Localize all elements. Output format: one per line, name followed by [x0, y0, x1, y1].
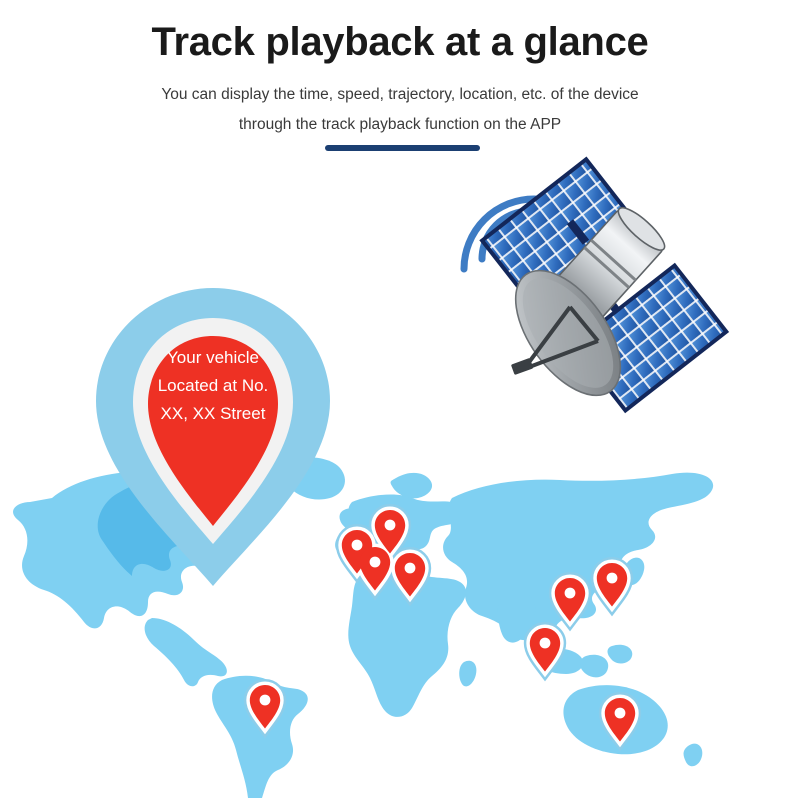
- title-underline-rule: [325, 145, 480, 151]
- callout-pin-svg: [88, 282, 338, 592]
- satellite-svg: [420, 155, 730, 465]
- page-subtitle-line-2: through the track playback function on t…: [90, 110, 710, 140]
- page-subtitle: You can display the time, speed, traject…: [90, 66, 710, 140]
- hero-header: Track playback at a glance You can displ…: [0, 0, 800, 140]
- page-subtitle-line-1: You can display the time, speed, traject…: [90, 80, 710, 110]
- vehicle-location-callout[interactable]: Your vehicle Located at No. XX, XX Stree…: [88, 282, 338, 592]
- satellite-illustration: [420, 155, 730, 465]
- promo-banner: Track playback at a glance You can displ…: [0, 0, 800, 800]
- feed-horn-icon: [511, 358, 534, 375]
- page-title: Track playback at a glance: [0, 0, 800, 66]
